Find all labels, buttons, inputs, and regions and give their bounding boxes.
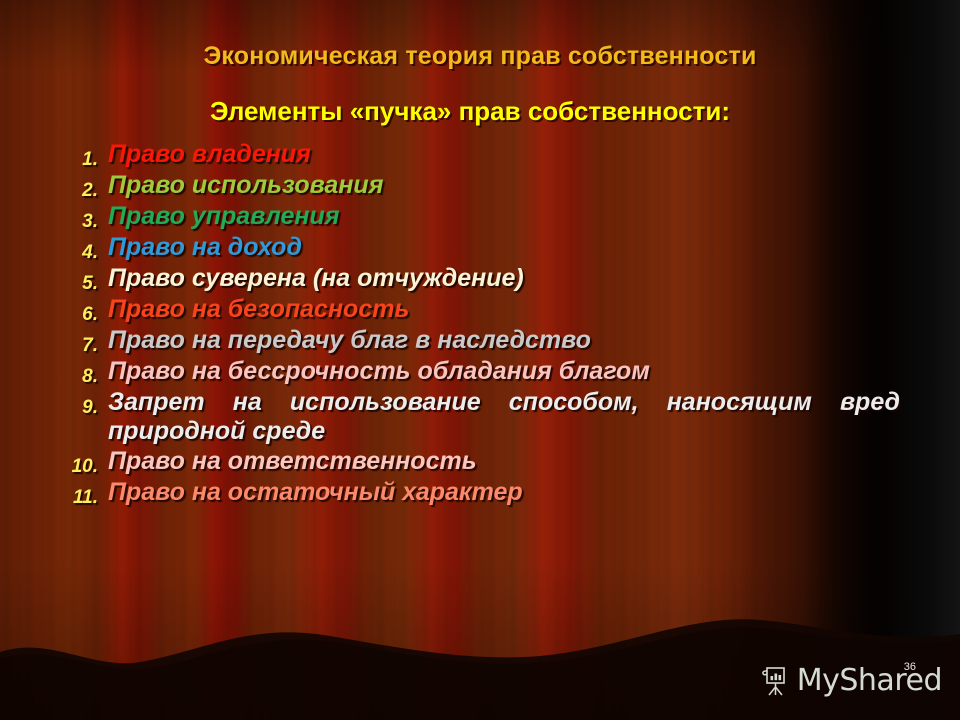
list-item: 10. Право на ответственность — [40, 447, 940, 476]
page-subtitle: Элементы «пучка» прав собственности: — [0, 96, 940, 127]
list-item-label: Право на передачу благ в наследство — [108, 326, 940, 355]
list-item-number: 7. — [40, 326, 108, 355]
list-item-number: 11. — [40, 478, 108, 507]
list-item-label: Право управления — [108, 202, 940, 231]
list-item-label: Право на остаточный характер — [108, 478, 940, 507]
list-item: 6. Право на безопасность — [40, 295, 940, 324]
list-item-label: Право суверена (на отчуждение) — [108, 264, 940, 293]
list-item: 2. Право использования — [40, 171, 940, 200]
list-item-number: 4. — [40, 233, 108, 262]
slide-canvas: Экономическая теория прав собственности … — [0, 0, 960, 720]
list-item: 7. Право на передачу благ в наследство — [40, 326, 940, 355]
list-item-label: Право использования — [108, 171, 940, 200]
page-number: 36 — [904, 661, 916, 673]
list-item-number: 8. — [40, 357, 108, 386]
list-item-number: 5. — [40, 264, 108, 293]
presentation-easel-icon — [758, 664, 792, 698]
list-item-number: 3. — [40, 202, 108, 231]
rights-bundle-list: 1. Право владения 2. Право использования… — [40, 140, 940, 509]
list-item-label: Право на безопасность — [108, 295, 940, 324]
list-item-label: Право на бессрочность обладания благом — [108, 357, 940, 386]
list-item-number: 10. — [40, 447, 108, 476]
list-item: 1. Право владения — [40, 140, 940, 169]
list-item: 9. Запрет на использование способом, нан… — [40, 388, 940, 445]
list-item-number: 2. — [40, 171, 108, 200]
list-item-label: Право на доход — [108, 233, 940, 262]
list-item-label: Право на ответственность — [108, 447, 940, 476]
list-item: 8. Право на бессрочность обладания благо… — [40, 357, 940, 386]
watermark-brand-text: MyShared — [797, 663, 942, 698]
list-item-label: Право владения — [108, 140, 940, 169]
page-title: Экономическая теория прав собственности — [0, 42, 960, 71]
list-item-number: 9. — [40, 388, 108, 417]
list-item: 11. Право на остаточный характер — [40, 478, 940, 507]
list-item: 3. Право управления — [40, 202, 940, 231]
list-item: 4. Право на доход — [40, 233, 940, 262]
list-item-label: Запрет на использование способом, нанося… — [108, 388, 940, 445]
list-item-number: 6. — [40, 295, 108, 324]
list-item-number: 1. — [40, 140, 108, 169]
list-item: 5. Право суверена (на отчуждение) — [40, 264, 940, 293]
